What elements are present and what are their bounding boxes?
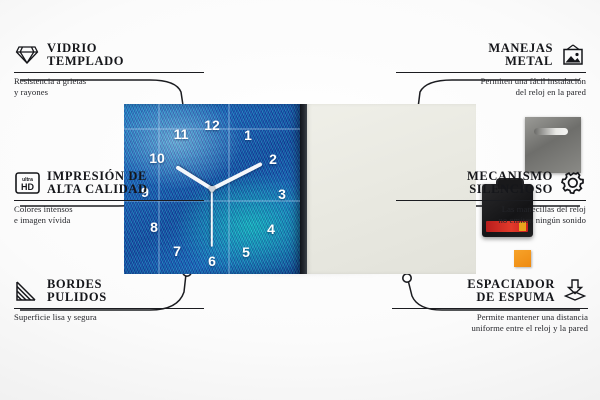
- feature-title-line1: BORDES: [47, 278, 107, 291]
- clock-numeral-2: 2: [269, 151, 277, 167]
- clock-minute-hand: [211, 162, 263, 191]
- feature-divider: [14, 72, 204, 73]
- clock-numeral-7: 7: [173, 243, 181, 259]
- clock-numeral-10: 10: [149, 150, 165, 166]
- clock-numeral-3: 3: [278, 186, 286, 202]
- infographic-canvas: 12 1 2 3 4 5 6 7 8 9 10 11: [0, 0, 600, 400]
- gear-icon: [560, 171, 586, 195]
- clock-second-hand: [211, 189, 213, 247]
- feature-description: Permiten una fácil instalación del reloj…: [396, 76, 586, 99]
- clock-numeral-5: 5: [242, 244, 250, 260]
- clock-numeral-4: 4: [267, 221, 275, 237]
- feature-espaciador-de-espuma[interactable]: ESPACIADOR DE ESPUMA Permite mantener un…: [392, 278, 588, 335]
- feature-title-line2: DE ESPUMA: [467, 291, 555, 304]
- clock-numeral-6: 6: [208, 253, 216, 269]
- feature-impresion-alta-calidad[interactable]: ultra HD IMPRESIÓN DE ALTA CALIDAD Color…: [14, 170, 204, 227]
- feature-title-line1: VIDRIO: [47, 42, 124, 55]
- feature-manejas-metal[interactable]: MANEJAS METAL Permiten una fácil instala…: [396, 42, 586, 99]
- feature-vidrio-templado[interactable]: VIDRIO TEMPLADO Resistencia a grietas y …: [14, 42, 204, 99]
- clock-numeral-1: 1: [244, 127, 252, 143]
- feature-title-line1: ESPACIADOR: [467, 278, 555, 291]
- feature-title-line1: MECANISMO: [467, 170, 553, 183]
- feature-description: Resistencia a grietas y rayones: [14, 76, 204, 99]
- feature-divider: [396, 200, 586, 201]
- foam-spacer: [514, 250, 531, 267]
- feature-mecanismo-silencioso[interactable]: MECANISMO SILENCIOSO Las manecillas del …: [396, 170, 586, 227]
- feature-divider: [392, 308, 588, 309]
- clock-edge-thickness: [300, 104, 307, 274]
- feature-bordes-pulidos[interactable]: BORDES PULIDOS Superficie lisa y segura: [14, 278, 204, 323]
- clock-numeral-12: 12: [204, 117, 220, 133]
- hanger-keyhole-slot: [534, 128, 568, 135]
- polished-edge-icon: [14, 279, 40, 303]
- foam-spacer-icon: [562, 279, 588, 303]
- feature-title-line1: IMPRESIÓN DE: [47, 170, 148, 183]
- feature-title-line2: METAL: [488, 55, 553, 68]
- diamond-icon: [14, 43, 40, 67]
- feature-title-line2: ALTA CALIDAD: [47, 183, 148, 196]
- feature-title-line1: MANEJAS: [488, 42, 553, 55]
- feature-description: Las manecillas del reloj no emiten ningú…: [396, 204, 586, 227]
- feature-title-line2: SILENCIOSO: [467, 183, 553, 196]
- feature-description: Superficie lisa y segura: [14, 312, 204, 323]
- feature-description: Permite mantener una distancia uniforme …: [392, 312, 588, 335]
- face-grid-line: [228, 104, 230, 274]
- clock-center-pin: [209, 186, 215, 192]
- feature-title-line2: PULIDOS: [47, 291, 107, 304]
- feature-divider: [396, 72, 586, 73]
- metal-hanger-plate: [525, 117, 581, 173]
- feature-description: Colores intensos e imagen vívida: [14, 204, 204, 227]
- feature-divider: [14, 200, 204, 201]
- svg-text:HD: HD: [21, 182, 34, 192]
- wall-hanger-icon: [560, 43, 586, 67]
- feature-title-line2: TEMPLADO: [47, 55, 124, 68]
- ultra-hd-icon: ultra HD: [14, 171, 40, 195]
- clock-numeral-11: 11: [174, 126, 189, 142]
- feature-divider: [14, 308, 204, 309]
